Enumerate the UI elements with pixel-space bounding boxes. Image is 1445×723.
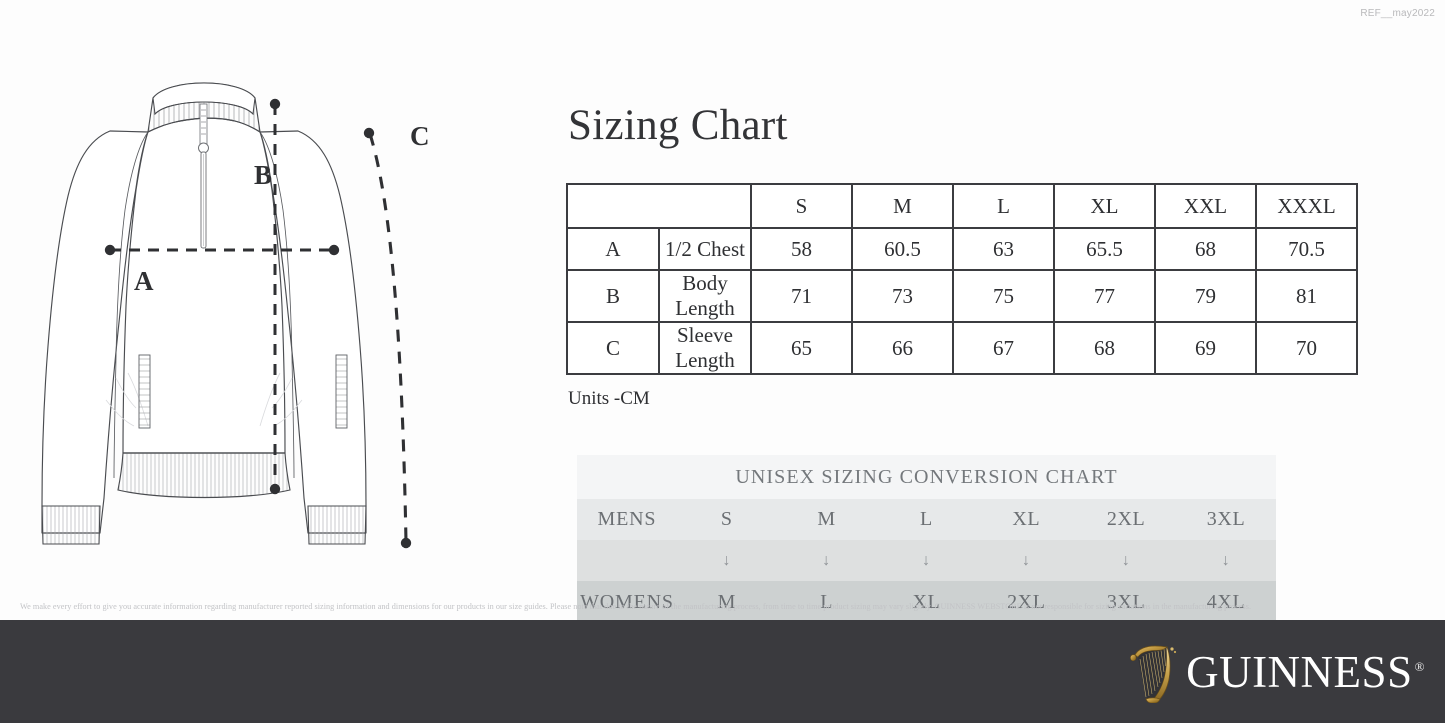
- guinness-logo: GUINNESS®: [1126, 642, 1425, 702]
- cell-b-m: 73: [852, 270, 953, 322]
- brand-name-text: GUINNESS: [1186, 647, 1413, 697]
- measure-line-c: [364, 128, 411, 548]
- charts-column: Sizing Chart S M L XL XXL XXXL A 1/2 Che…: [566, 104, 1366, 624]
- cell-c-xxxl: 70: [1256, 322, 1357, 374]
- cell-a-s: 58: [751, 228, 852, 270]
- cell-a-xxxl: 70.5: [1256, 228, 1357, 270]
- down-arrow-icon: ↓: [1176, 540, 1276, 581]
- header-size-xl: XL: [1054, 184, 1155, 228]
- mens-size-1: S: [677, 499, 777, 540]
- cell-b-l: 75: [953, 270, 1054, 322]
- conversion-title-row: UNISEX SIZING CONVERSION CHART: [577, 455, 1276, 499]
- conversion-mens-row: MENS S M L XL 2XL 3XL: [577, 499, 1276, 540]
- header-size-s: S: [751, 184, 852, 228]
- down-arrow-icon: ↓: [976, 540, 1076, 581]
- mens-row-label: MENS: [577, 499, 677, 540]
- row-label-c: Sleeve Length: [659, 322, 751, 374]
- pocket-left: [139, 355, 150, 428]
- mens-size-2: M: [777, 499, 877, 540]
- registered-trademark-icon: ®: [1415, 659, 1425, 674]
- arrow-row-blank: [577, 540, 677, 581]
- cell-a-l: 63: [953, 228, 1054, 270]
- table-row: C Sleeve Length 65 66 67 68 69 70: [567, 322, 1357, 374]
- row-label-a: 1/2 Chest: [659, 228, 751, 270]
- sizing-chart-page: REF__may2022: [0, 0, 1445, 723]
- down-arrow-icon: ↓: [1076, 540, 1176, 581]
- cell-a-xl: 65.5: [1054, 228, 1155, 270]
- row-label-b: Body Length: [659, 270, 751, 322]
- marker-c-label: C: [410, 121, 430, 151]
- disclaimer-text: We make every effort to give you accurat…: [20, 601, 1430, 612]
- cell-c-l: 67: [953, 322, 1054, 374]
- cell-b-xxxl: 81: [1256, 270, 1357, 322]
- cell-c-xxl: 69: [1155, 322, 1256, 374]
- ribbed-hem: [118, 453, 290, 498]
- header-size-l: L: [953, 184, 1054, 228]
- down-arrow-icon: ↓: [777, 540, 877, 581]
- cell-a-xxl: 68: [1155, 228, 1256, 270]
- mens-size-5: 2XL: [1076, 499, 1176, 540]
- harp-icon: [1126, 641, 1178, 703]
- marker-b-label: B: [254, 160, 272, 190]
- cell-c-s: 65: [751, 322, 852, 374]
- cell-b-s: 71: [751, 270, 852, 322]
- measurement-table: S M L XL XXL XXXL A 1/2 Chest 58 60.5 63…: [566, 183, 1358, 375]
- conversion-arrow-row: ↓ ↓ ↓ ↓ ↓ ↓: [577, 540, 1276, 581]
- conversion-chart: UNISEX SIZING CONVERSION CHART MENS S M …: [577, 455, 1276, 624]
- conversion-table: UNISEX SIZING CONVERSION CHART MENS S M …: [577, 455, 1276, 624]
- row-key-b: B: [567, 270, 659, 322]
- header-size-xxxl: XXXL: [1256, 184, 1357, 228]
- header-blank-key: [567, 184, 751, 228]
- mens-size-4: XL: [976, 499, 1076, 540]
- marker-a-label: A: [134, 266, 154, 296]
- cell-b-xl: 77: [1054, 270, 1155, 322]
- garment-diagram: A B C: [18, 28, 468, 573]
- cell-a-m: 60.5: [852, 228, 953, 270]
- cell-c-m: 66: [852, 322, 953, 374]
- measurement-table-head: S M L XL XXL XXXL: [567, 184, 1357, 228]
- cuff-right: [308, 506, 366, 544]
- page-title: Sizing Chart: [568, 104, 1366, 147]
- row-key-c: C: [567, 322, 659, 374]
- reference-code: REF__may2022: [1360, 8, 1435, 19]
- conversion-title: UNISEX SIZING CONVERSION CHART: [577, 455, 1276, 499]
- cuff-left: [42, 506, 100, 544]
- units-note: Units -CM: [568, 388, 1366, 410]
- row-key-a: A: [567, 228, 659, 270]
- brand-wordmark: GUINNESS®: [1186, 650, 1425, 695]
- garment-svg: A B C: [18, 28, 468, 573]
- footer-bar: GUINNESS®: [0, 620, 1445, 723]
- header-size-m: M: [852, 184, 953, 228]
- cell-c-xl: 68: [1054, 322, 1155, 374]
- table-row: A 1/2 Chest 58 60.5 63 65.5 68 70.5: [567, 228, 1357, 270]
- mens-size-3: L: [877, 499, 977, 540]
- mens-size-6: 3XL: [1176, 499, 1276, 540]
- down-arrow-icon: ↓: [877, 540, 977, 581]
- table-row: B Body Length 71 73 75 77 79 81: [567, 270, 1357, 322]
- header-size-xxl: XXL: [1155, 184, 1256, 228]
- down-arrow-icon: ↓: [677, 540, 777, 581]
- table-header-row: S M L XL XXL XXXL: [567, 184, 1357, 228]
- cell-b-xxl: 79: [1155, 270, 1256, 322]
- measurement-table-body: A 1/2 Chest 58 60.5 63 65.5 68 70.5 B Bo…: [567, 228, 1357, 374]
- pocket-right: [336, 355, 347, 428]
